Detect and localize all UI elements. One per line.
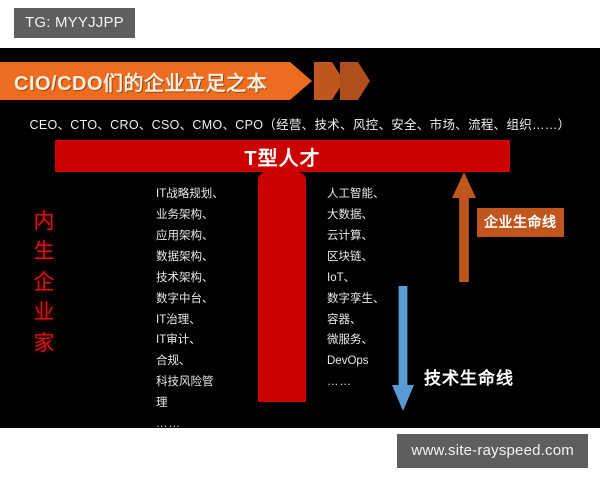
list-item: 合规、 (156, 351, 224, 372)
banner: CIO/CDO们的企业立足之本 (0, 62, 400, 100)
vertical-red-char: 企 (24, 267, 64, 297)
slide-canvas: CIO/CDO们的企业立足之本 CEO、CTO、CRO、CSO、CMO、CPO（… (0, 48, 600, 428)
arrow-down-icon (392, 286, 414, 411)
banner-title: CIO/CDO们的企业立足之本 (0, 67, 267, 96)
vertical-red-char: 家 (24, 328, 64, 358)
vertical-red-char: 生 (24, 236, 64, 266)
list-item: 微服务、 (327, 330, 385, 351)
arrow-up-icon (452, 172, 476, 282)
list-item: IT审计、 (156, 330, 224, 351)
t-shape-horizontal-bar: T型人才 (55, 140, 510, 172)
list-item: 科技风险管 (156, 372, 224, 393)
list-item: IoT、 (327, 268, 385, 289)
list-item-ellipsis: …… (327, 372, 385, 393)
site-watermark-label: www.site-rayspeed.com (411, 442, 574, 459)
list-item: 技术架构、 (156, 268, 224, 289)
chevron-right-icon (340, 62, 370, 100)
t-shape-label: T型人才 (244, 142, 320, 171)
list-item: 人工智能、 (327, 184, 385, 205)
vertical-red-char: 业 (24, 297, 64, 327)
list-item: IT治理、 (156, 310, 224, 331)
banner-arrow-shape: CIO/CDO们的企业立足之本 (0, 62, 312, 100)
vertical-red-char: 内 (24, 206, 64, 236)
site-watermark-badge: www.site-rayspeed.com (397, 434, 588, 468)
enterprise-lifeline-label: 企业生命线 (477, 208, 564, 237)
roles-subtitle: CEO、CTO、CRO、CSO、CMO、CPO（经营、技术、风控、安全、市场、流… (0, 114, 600, 133)
list-item: 理 (156, 393, 224, 414)
list-item: 云计算、 (327, 226, 385, 247)
list-item: 数据架构、 (156, 247, 224, 268)
tech-lifeline-label: 技术生命线 (424, 364, 514, 389)
tg-watermark-label: TG: MYYJJPP (25, 14, 124, 31)
list-item: 业务架构、 (156, 205, 224, 226)
list-item: 数字中台、 (156, 289, 224, 310)
tg-watermark-badge: TG: MYYJJPP (14, 8, 135, 38)
left-skill-column: IT战略规划、 业务架构、 应用架构、 数据架构、 技术架构、 数字中台、 IT… (156, 184, 224, 428)
list-item: 大数据、 (327, 205, 385, 226)
right-skill-column: 人工智能、 大数据、 云计算、 区块链、 IoT、 数字孪生、 容器、 微服务、… (327, 184, 385, 393)
list-item: DevOps (327, 351, 385, 372)
list-item: 区块链、 (327, 247, 385, 268)
list-item: IT战略规划、 (156, 184, 224, 205)
list-item-ellipsis: …… (156, 414, 224, 428)
t-shape-vertical-stem (258, 172, 306, 402)
list-item: 数字孪生、 (327, 289, 385, 310)
list-item: 应用架构、 (156, 226, 224, 247)
vertical-red-label: 内 生 企 业 家 (24, 206, 64, 358)
chevron-right-icon (314, 62, 344, 100)
list-item: 容器、 (327, 310, 385, 331)
